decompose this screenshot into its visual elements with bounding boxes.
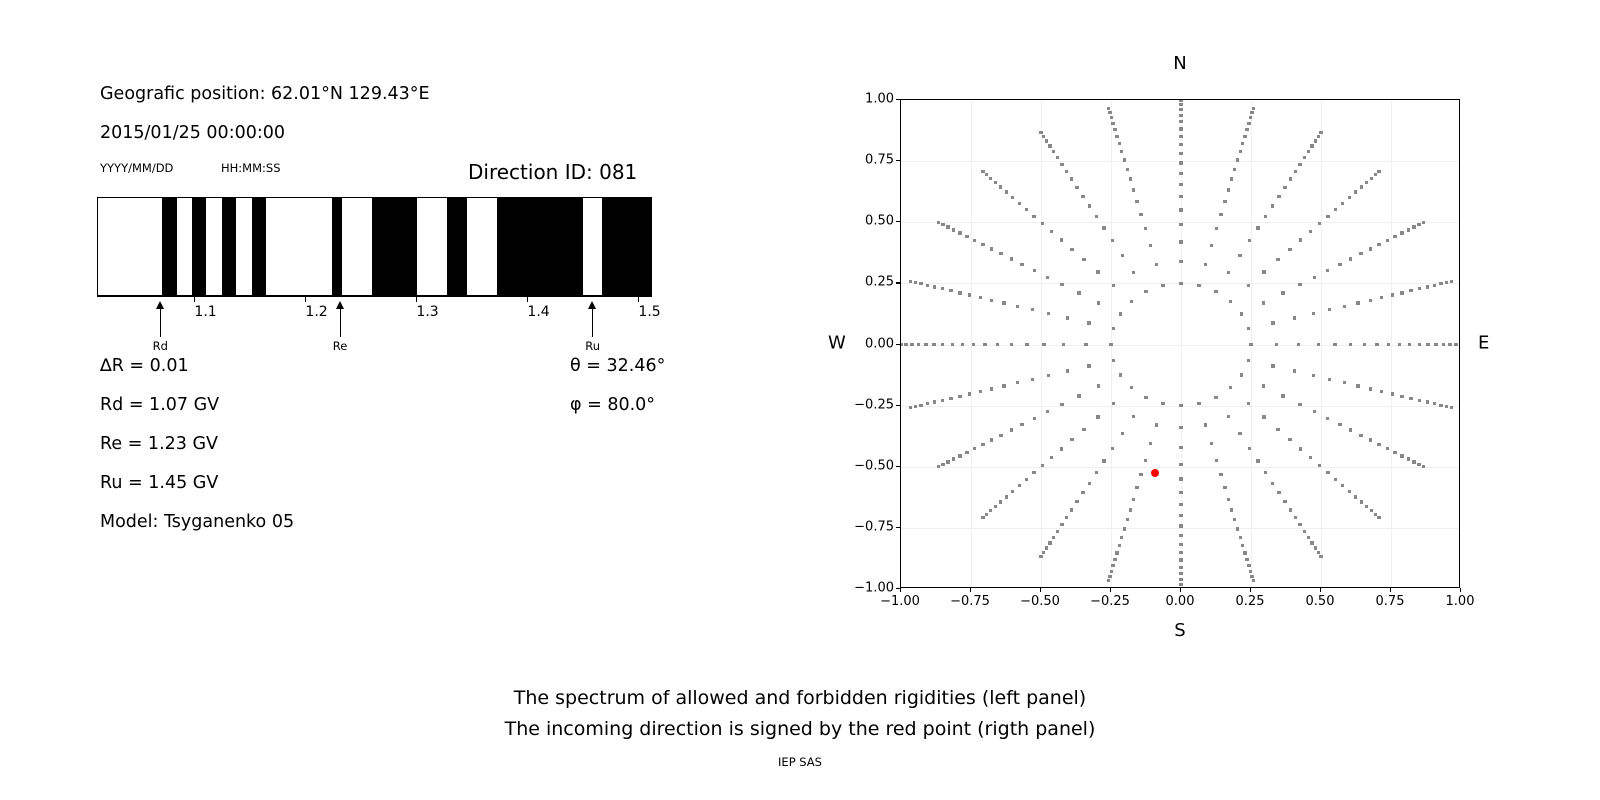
direction-point [1042, 135, 1045, 138]
x-axis-tick [1180, 588, 1181, 592]
direction-point [1179, 223, 1182, 226]
x-axis-tick [1390, 588, 1391, 592]
direction-point [1417, 223, 1420, 226]
direction-point [1135, 486, 1138, 489]
direction-point [1271, 482, 1274, 485]
direction-point [1250, 575, 1253, 578]
direction-point [1262, 301, 1265, 304]
direction-point [1179, 172, 1182, 175]
time-format-hint: HH:MM:SS [221, 161, 281, 175]
direction-point [996, 343, 999, 346]
direction-point [1277, 491, 1280, 494]
direction-point [1343, 381, 1346, 384]
direction-point [1241, 544, 1244, 547]
forbidden-band [192, 198, 206, 295]
direction-point [1095, 471, 1098, 474]
direction-point [1309, 456, 1312, 459]
compass-label-east: E [1478, 333, 1489, 354]
direction-point [1359, 252, 1362, 255]
direction-point [1113, 128, 1116, 131]
direction-point [1377, 170, 1380, 173]
direction-point [1450, 406, 1453, 409]
direction-point [1179, 114, 1182, 117]
spectrum-marker-arrow-rd [156, 301, 165, 337]
direction-point [1204, 423, 1207, 426]
direction-point [1227, 415, 1230, 418]
direction-point [1126, 518, 1129, 521]
direction-point [1312, 312, 1315, 315]
direction-point [1050, 230, 1053, 233]
direction-point [1048, 541, 1051, 544]
direction-point [1204, 263, 1207, 266]
direction-point [1310, 541, 1313, 544]
direction-point [958, 231, 961, 234]
direction-point [990, 438, 993, 441]
direction-point [1108, 575, 1111, 578]
direction-point [1033, 417, 1036, 420]
spectrum-marker-label-ru: Ru [585, 339, 600, 353]
direction-point [1249, 570, 1252, 573]
direction-point [1334, 208, 1337, 211]
x-axis-tick [970, 588, 971, 592]
direction-point [1426, 285, 1429, 288]
direction-point [1250, 111, 1253, 114]
direction-point [1252, 107, 1255, 110]
direction-point [985, 513, 988, 516]
direction-point [1179, 152, 1182, 155]
direction-point [979, 390, 982, 393]
direction-point [1010, 257, 1013, 260]
direction-point [1005, 495, 1008, 498]
direction-point [1179, 195, 1182, 198]
x-axis-tick-label: 0.75 [1376, 594, 1405, 609]
direction-point [1418, 343, 1421, 346]
direction-point [1111, 122, 1114, 125]
direction-point [961, 343, 964, 346]
direction-point [1070, 248, 1073, 251]
direction-point [917, 343, 920, 346]
direction-point [1407, 457, 1410, 460]
direction-point [1422, 465, 1425, 468]
spectrum-tick-label: 1.5 [638, 304, 660, 320]
spectrum-marker-label-re: Re [333, 339, 348, 353]
x-axis-tick [1320, 588, 1321, 592]
direction-point [1126, 168, 1129, 171]
direction-point [1313, 276, 1316, 279]
direction-point [1132, 271, 1135, 274]
spectrum-marker-arrow-re [336, 301, 345, 337]
direction-point [1398, 343, 1401, 346]
direction-point [914, 405, 917, 408]
direction-point [1102, 459, 1105, 462]
direction-point [1075, 500, 1078, 503]
y-axis-tick-label: −0.75 [854, 519, 894, 534]
direction-point [1095, 215, 1098, 218]
direction-point [1354, 190, 1357, 193]
x-axis-tick-label: −0.50 [1020, 594, 1060, 609]
direction-point [1123, 527, 1126, 530]
direction-point [1011, 490, 1014, 493]
direction-point [1214, 396, 1217, 399]
direction-point [1319, 555, 1322, 558]
direction-point [1032, 471, 1035, 474]
direction-point [946, 460, 949, 463]
direction-point [1412, 225, 1415, 228]
forbidden-band [162, 198, 178, 295]
direction-point [1393, 451, 1396, 454]
direction-point [1387, 343, 1390, 346]
direction-point [1400, 231, 1403, 234]
direction-point [1338, 423, 1341, 426]
direction-point [1223, 200, 1226, 203]
direction-point [1120, 536, 1123, 539]
direction-point [1179, 135, 1182, 138]
direction-point [1115, 551, 1118, 554]
direction-point [1179, 463, 1182, 466]
direction-point [1102, 226, 1105, 229]
x-axis-tick-label: 0.50 [1306, 594, 1335, 609]
direction-point [1360, 185, 1363, 188]
direction-point [1066, 369, 1069, 372]
direction-point [1264, 471, 1267, 474]
forbidden-band [447, 198, 467, 295]
direction-point [1018, 484, 1021, 487]
geographic-position-label: Geografic position: 62.01°N 129.43°E [100, 84, 430, 104]
direction-point [1288, 248, 1291, 251]
direction-point [1065, 516, 1068, 519]
direction-point [1179, 240, 1182, 243]
direction-point [1179, 426, 1182, 429]
direction-point [1439, 404, 1442, 407]
direction-point [1056, 530, 1059, 533]
direction-point [1111, 447, 1114, 450]
direction-point [1348, 490, 1351, 493]
direction-point [924, 343, 927, 346]
direction-point [1060, 523, 1063, 526]
gridline-vertical [1391, 100, 1392, 587]
direction-point [1433, 284, 1436, 287]
direction-point [1144, 290, 1147, 293]
direction-point [1070, 177, 1073, 180]
direction-point [1249, 116, 1252, 119]
direction-point [1179, 260, 1182, 263]
spectrum-axis-line [97, 296, 652, 297]
direction-point [1179, 282, 1182, 285]
direction-point [1070, 438, 1073, 441]
direction-point [1110, 116, 1113, 119]
direction-point [1112, 284, 1115, 287]
direction-point [1066, 316, 1069, 319]
direction-point [990, 387, 993, 390]
direction-point [1179, 120, 1182, 123]
direction-point [1025, 208, 1028, 211]
direction-point [1039, 555, 1042, 558]
direction-point [979, 296, 982, 299]
spectrum-tick [416, 296, 417, 302]
direction-point [1288, 438, 1291, 441]
direction-point [1005, 190, 1008, 193]
direction-point [1365, 505, 1368, 508]
direction-point [1111, 239, 1114, 242]
direction-point [1052, 536, 1055, 539]
direction-point [1010, 428, 1013, 431]
direction-point [1230, 177, 1233, 180]
direction-point [1375, 343, 1378, 346]
direction-point [926, 402, 929, 405]
direction-point [1317, 343, 1320, 346]
direction-point [1112, 327, 1115, 330]
direction-point [1407, 228, 1410, 231]
direction-point [1056, 156, 1059, 159]
direction-point [1087, 321, 1090, 324]
direction-point [1062, 343, 1065, 346]
direction-point [1459, 343, 1460, 346]
direction-point [972, 343, 975, 346]
forbidden-band [497, 198, 582, 295]
direction-point [1016, 381, 1019, 384]
direction-point [958, 291, 961, 294]
direction-point [1349, 343, 1352, 346]
direction-point [1052, 150, 1055, 153]
direction-point [1249, 343, 1252, 346]
direction-point [965, 451, 968, 454]
direction-point [989, 509, 992, 512]
direction-point [973, 239, 976, 242]
direction-point [1303, 530, 1306, 533]
direction-point [1247, 122, 1250, 125]
direction-point [1179, 127, 1182, 130]
direction-point [1118, 544, 1121, 547]
direction-point [1236, 527, 1239, 530]
direction-point [1233, 518, 1236, 521]
direction-point [1197, 402, 1200, 405]
direction-point [919, 404, 922, 407]
direction-point [1360, 500, 1363, 503]
spectrum-tick-label: 1.1 [194, 304, 216, 320]
direction-point [1422, 221, 1425, 224]
y-axis-tick [896, 527, 900, 528]
direction-point [1227, 188, 1230, 191]
x-axis-tick-label: −0.75 [950, 594, 990, 609]
direction-point [1309, 230, 1312, 233]
direction-point [1248, 447, 1251, 450]
direction-point [1369, 299, 1372, 302]
direction-point [909, 406, 912, 409]
direction-point [1109, 343, 1112, 346]
direction-point [1179, 566, 1182, 569]
direction-point [1310, 144, 1313, 147]
direction-point [1060, 447, 1063, 450]
direction-point [1400, 395, 1403, 398]
direction-point [1060, 403, 1063, 406]
direction-point [1230, 508, 1233, 511]
direction-point [1293, 316, 1296, 319]
spectrum-tick [527, 296, 528, 302]
param-delta-r: ∆R = 0.01 [100, 356, 189, 376]
direction-point [1179, 404, 1182, 407]
date-format-hint: YYYY/MM/DD [100, 161, 173, 175]
direction-point [1065, 170, 1068, 173]
direction-point [1179, 143, 1182, 146]
direction-point [1439, 282, 1442, 285]
direction-point [1313, 410, 1316, 413]
direction-point [1256, 459, 1259, 462]
gridline-vertical [1321, 100, 1322, 587]
direction-point [1155, 263, 1158, 266]
direction-point [946, 225, 949, 228]
direction-point [1277, 195, 1280, 198]
direction-point [1348, 196, 1351, 199]
forbidden-band [602, 198, 652, 295]
direction-point [999, 500, 1002, 503]
direction-point [1442, 343, 1445, 346]
direction-point [933, 400, 936, 403]
direction-point [1303, 156, 1306, 159]
param-ru: Ru = 1.45 GV [100, 473, 218, 493]
direction-point [952, 228, 955, 231]
direction-point [1047, 312, 1050, 315]
direction-point [1370, 177, 1373, 180]
direction-point [1115, 135, 1118, 138]
direction-point [994, 181, 997, 184]
y-axis-tick-label: −0.50 [854, 458, 894, 473]
x-axis-tick-label: −0.25 [1090, 594, 1130, 609]
direction-point [1236, 158, 1239, 161]
direction-point [1082, 428, 1085, 431]
direction-point [937, 221, 940, 224]
direction-point [1349, 428, 1352, 431]
direction-point [1097, 301, 1100, 304]
gridline-horizontal [901, 528, 1459, 529]
direction-point [909, 280, 912, 283]
direction-point [1386, 239, 1389, 242]
direction-point [1097, 384, 1100, 387]
direction-point [1326, 471, 1329, 474]
direction-point [1298, 523, 1301, 526]
direction-point [1319, 131, 1322, 134]
forbidden-band [372, 198, 418, 295]
direction-point [1247, 564, 1250, 567]
direction-point [1341, 202, 1344, 205]
direction-point [1179, 491, 1182, 494]
direction-point [1002, 301, 1005, 304]
direction-point [1132, 188, 1135, 191]
direction-point [1130, 300, 1133, 303]
direction-point [1048, 144, 1051, 147]
direction-point [932, 343, 935, 346]
y-axis-tick [896, 344, 900, 345]
y-axis-tick-label: 0.25 [865, 275, 894, 290]
direction-point [1088, 482, 1091, 485]
direction-point [1130, 386, 1133, 389]
direction-point [981, 516, 984, 519]
direction-point [1380, 390, 1383, 393]
direction-point [1132, 415, 1135, 418]
direction-point [1132, 498, 1135, 501]
direction-point [1299, 238, 1302, 241]
direction-point [1307, 150, 1310, 153]
direction-point [1239, 536, 1242, 539]
direction-point [1002, 384, 1005, 387]
footer-label: IEP SAS [0, 755, 1600, 769]
direction-point [1047, 374, 1050, 377]
x-axis-tick [1040, 588, 1041, 592]
direction-point [1179, 551, 1182, 554]
direction-point [1179, 583, 1182, 586]
direction-point [1031, 308, 1034, 311]
direction-point [1240, 373, 1243, 376]
direction-point [1262, 415, 1265, 418]
forbidden-band [222, 198, 236, 295]
direction-point [1119, 373, 1122, 376]
direction-point [1377, 443, 1380, 446]
direction-point [1011, 196, 1014, 199]
direction-point [1227, 271, 1230, 274]
direction-point [1087, 364, 1090, 367]
direction-point [1119, 312, 1122, 315]
y-axis-tick [896, 221, 900, 222]
direction-point [981, 170, 984, 173]
direction-point [1041, 222, 1044, 225]
direction-point [1369, 247, 1372, 250]
gridline-horizontal [901, 467, 1459, 468]
x-axis-tick-label: 0.25 [1236, 594, 1265, 609]
direction-point [1298, 163, 1301, 166]
direction-point [919, 282, 922, 285]
direction-point [1060, 283, 1063, 286]
direction-point [1144, 227, 1147, 230]
x-axis-tick-label: −1.00 [880, 594, 920, 609]
direction-point [1179, 572, 1182, 575]
compass-label-north: N [1173, 53, 1186, 74]
y-axis-tick [896, 282, 900, 283]
direction-point [965, 235, 968, 238]
direction-point [1179, 446, 1182, 449]
direction-point [1139, 473, 1142, 476]
direction-point [1096, 270, 1099, 273]
direction-point [1179, 183, 1182, 186]
spectrum-marker-label-rd: Rd [153, 339, 168, 353]
direction-point [1370, 509, 1373, 512]
direction-point [1219, 213, 1222, 216]
direction-point [990, 299, 993, 302]
direction-point [1179, 534, 1182, 537]
spectrum-tick-label: 1.4 [527, 304, 549, 320]
direction-point [1294, 516, 1297, 519]
x-axis-tick [1250, 588, 1251, 592]
direction-point [1020, 263, 1023, 266]
direction-point [1112, 359, 1115, 362]
direction-point [1256, 226, 1259, 229]
datetime-label: 2015/01/25 00:00:00 [100, 123, 285, 143]
direction-point [1179, 503, 1182, 506]
polar-plot-frame [900, 99, 1460, 588]
direction-point [1215, 459, 1218, 462]
direction-point [1223, 486, 1226, 489]
direction-point [1312, 374, 1315, 377]
direction-point [1045, 546, 1048, 549]
direction-point [968, 293, 971, 296]
direction-point [1033, 269, 1036, 272]
spectrum-tick [305, 296, 306, 302]
direction-point [1112, 402, 1115, 405]
direction-point [1328, 378, 1331, 381]
direction-point [1210, 442, 1213, 445]
x-axis-tick [900, 588, 901, 592]
direction-point [1227, 498, 1230, 501]
direction-point [1046, 410, 1049, 413]
direction-point [990, 247, 993, 250]
